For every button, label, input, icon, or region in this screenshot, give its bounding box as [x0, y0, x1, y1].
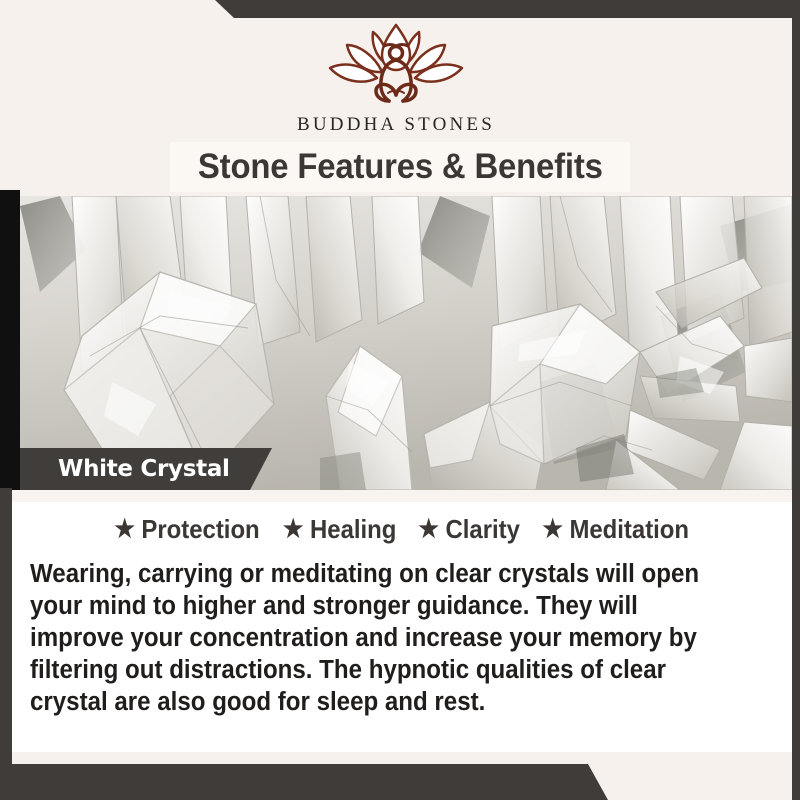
benefits-row: ★ Protection ★ Healing ★ Clarity ★ Medit…: [12, 514, 792, 545]
benefit-item-clarity: ★ Clarity: [418, 514, 520, 545]
photo-caption-banner: White Crystal: [20, 448, 272, 490]
photo-left-shadow: [0, 190, 20, 490]
benefit-label: Meditation: [570, 514, 690, 545]
panel-top-tint: [12, 490, 792, 502]
benefit-label: Healing: [310, 514, 396, 545]
star-icon: ★: [283, 517, 304, 542]
content-panel: ★ Protection ★ Healing ★ Clarity ★ Medit…: [12, 490, 792, 752]
star-icon: ★: [418, 517, 439, 542]
description-text: Wearing, carrying or meditating on clear…: [30, 558, 733, 718]
brand-name: BUDDHA STONES: [297, 114, 495, 136]
benefit-item-protection: ★ Protection: [115, 514, 260, 545]
star-icon: ★: [543, 517, 564, 542]
frame-left-edge: [0, 488, 12, 800]
benefit-item-healing: ★ Healing: [283, 514, 396, 545]
lotus-meditation-icon: [321, 22, 471, 110]
benefit-label: Protection: [142, 514, 260, 545]
frame-right-edge: [792, 0, 800, 735]
brand-logo: BUDDHA STONES: [0, 22, 792, 136]
benefit-label: Clarity: [445, 514, 519, 545]
page-title: Stone Features & Benefits: [198, 147, 603, 187]
benefit-item-meditation: ★ Meditation: [543, 514, 690, 545]
crystal-photo-art: [20, 196, 792, 490]
poster-root: BUDDHA STONES Stone Features & Benefits: [0, 0, 800, 800]
title-band: Stone Features & Benefits: [170, 142, 630, 192]
crystal-photo: White Crystal: [20, 196, 792, 490]
star-icon: ★: [115, 517, 136, 542]
photo-caption-text: White Crystal: [58, 456, 230, 482]
